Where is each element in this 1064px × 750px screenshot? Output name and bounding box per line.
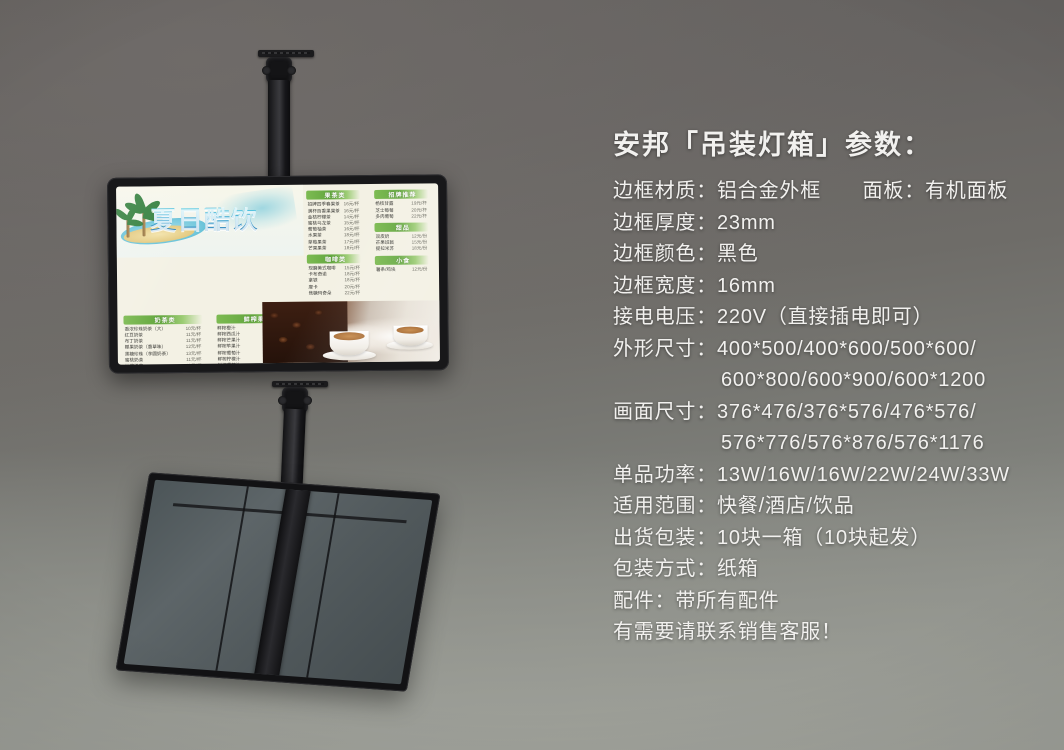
specification-panel: 安邦「吊装灯箱」参数： 边框材质：铝合金外框 面板：有机面板 边框厚度：23mm…: [613, 128, 1043, 649]
spec-line: 边框颜色：黑色: [613, 239, 1043, 271]
spec-line: 画面尺寸：376*476/376*576/476*576/: [613, 397, 1043, 429]
spec-line: 有需要请联系销售客服！: [613, 617, 1043, 649]
spec-line: 边框厚度：23mm: [613, 208, 1043, 240]
spec-line: 边框材质：铝合金外框 面板：有机面板: [613, 176, 1043, 208]
spec-line: 外形尺寸：400*500/400*600/500*600/: [613, 334, 1043, 366]
specs-lines: 边框材质：铝合金外框 面板：有机面板 边框厚度：23mm 边框颜色：黑色 边框宽…: [613, 176, 1043, 649]
spec-line: 接电电压：220V（直接插电即可）: [613, 302, 1043, 334]
spec-line: 适用范围：快餐/酒店/饮品: [613, 491, 1043, 523]
spec-line: 配件：带所有配件: [613, 586, 1043, 618]
spec-line: 576*776/576*876/576*1176: [613, 428, 1043, 460]
product-photo-scene: 夏日酷饮 奶茶类 香浓珍珠奶茶（大）10元/杯: [0, 0, 1064, 750]
spec-line: 边框宽度：16mm: [613, 271, 1043, 303]
spec-line: 包装方式：纸箱: [613, 554, 1043, 586]
spec-line: 600*800/600*900/600*1200: [613, 365, 1043, 397]
spec-line: 单品功率：13W/16W/16W/22W/24W/33W: [613, 460, 1043, 492]
specs-title: 安邦「吊装灯箱」参数：: [613, 128, 1043, 162]
spec-line: 出货包装：10块一箱（10块起发）: [613, 523, 1043, 555]
